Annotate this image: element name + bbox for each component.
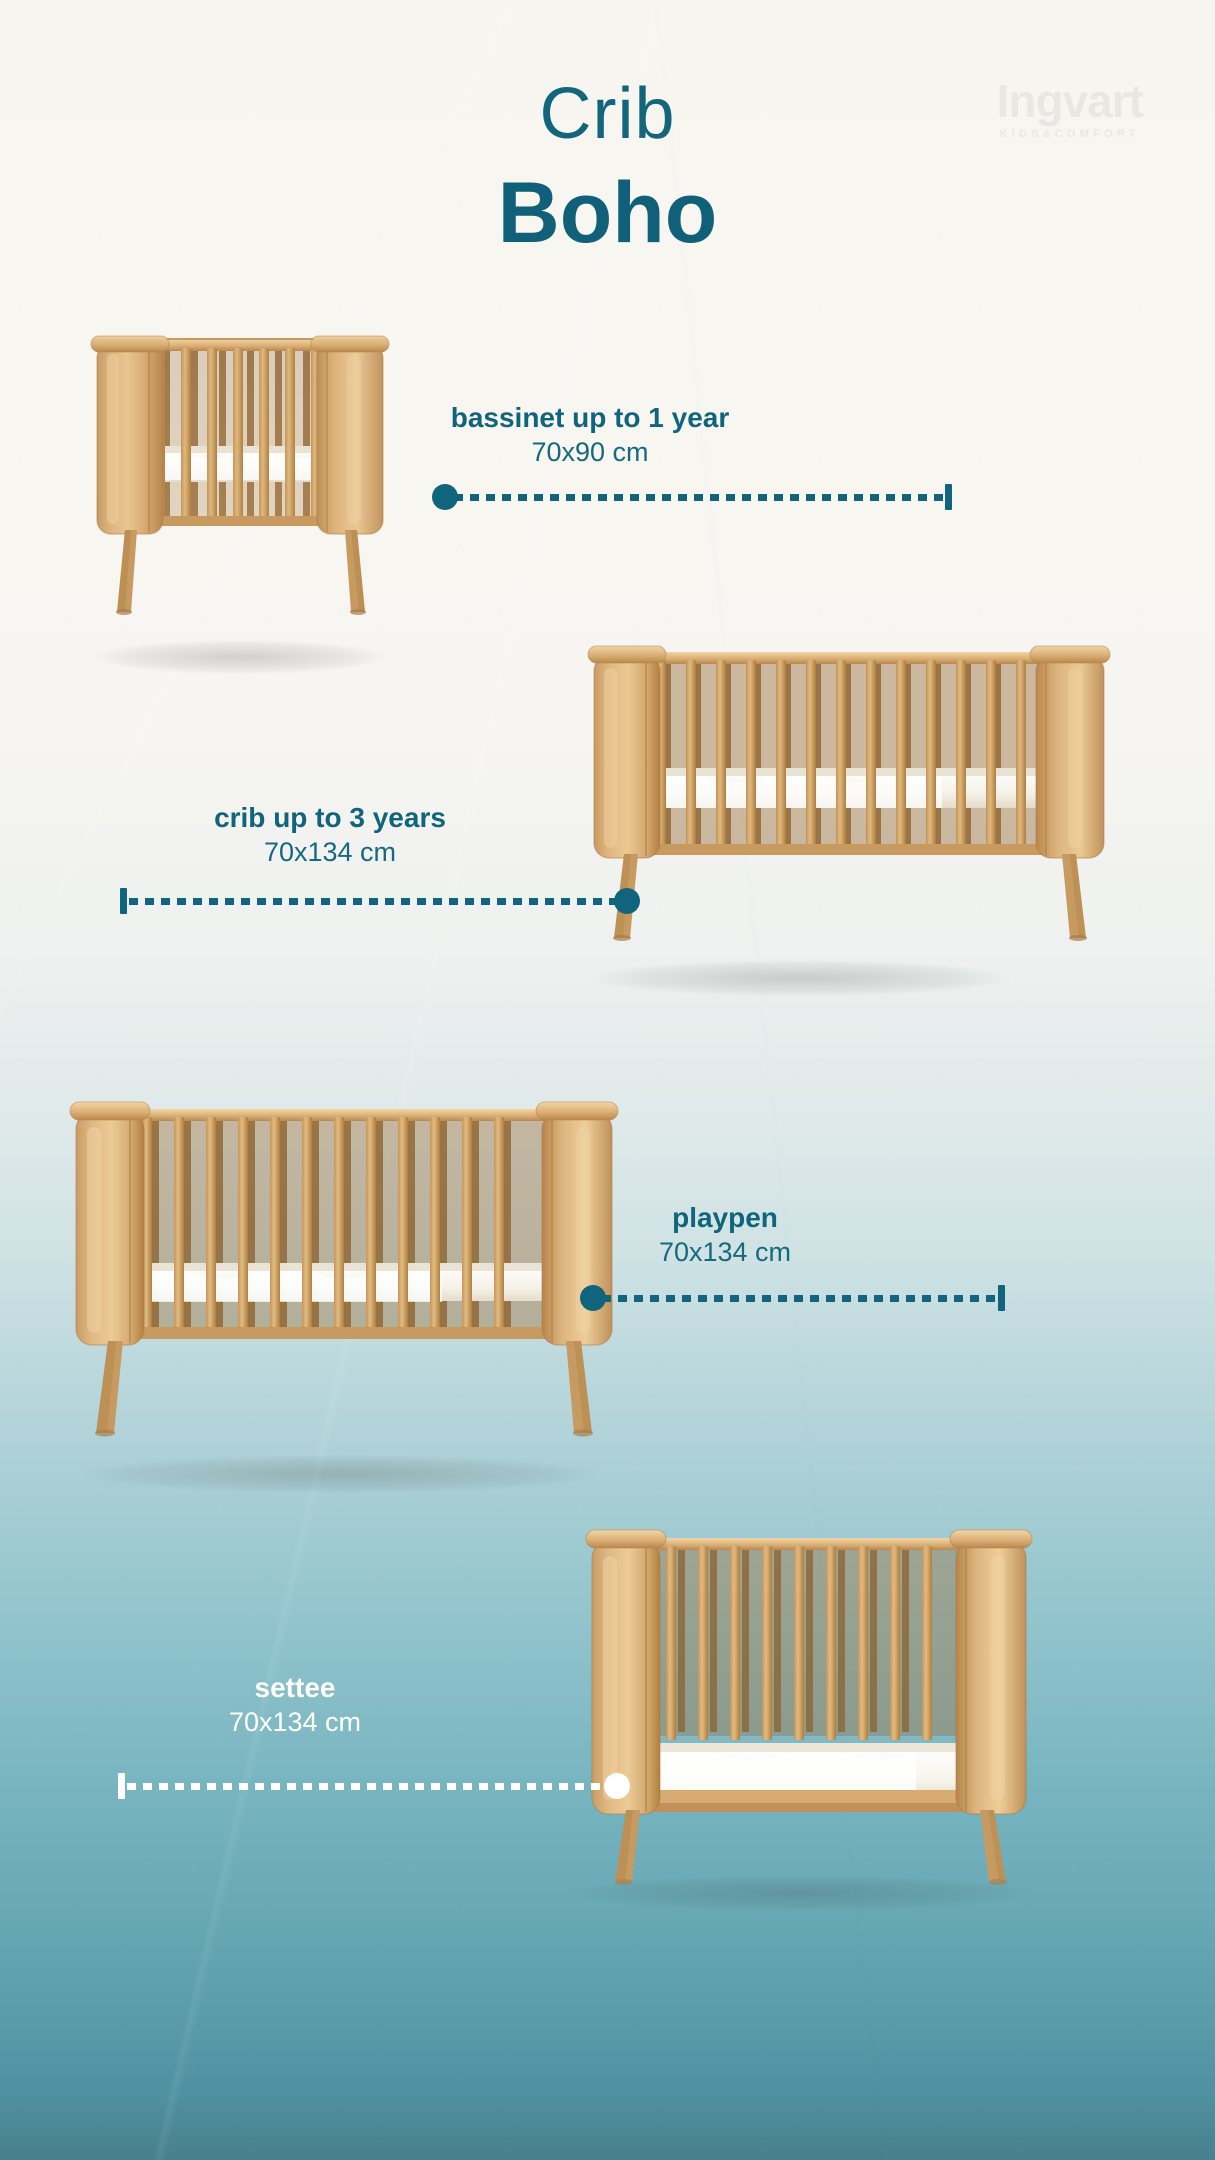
leader-line-playpen <box>580 1287 1005 1309</box>
brand-tagline: KIDS&COMFORT <box>997 128 1143 140</box>
playpen-image <box>60 1085 630 1475</box>
leader-dots-playpen <box>602 1295 996 1302</box>
callout-crib-dimensions: 70x134 cm <box>110 835 550 870</box>
leader-start-dot-playpen <box>580 1285 606 1311</box>
leader-end-dot-settee <box>604 1773 630 1799</box>
callout-playpen-title: playpen <box>570 1200 880 1235</box>
leader-start-dot-bassinet <box>432 484 458 510</box>
callout-settee: settee 70x134 cm <box>140 1670 450 1740</box>
leader-dots-bassinet <box>454 494 943 501</box>
leader-end-cap-playpen <box>998 1285 1005 1311</box>
callout-playpen-dimensions: 70x134 cm <box>570 1235 880 1270</box>
page-title-line2: Boho <box>0 170 1215 256</box>
leader-start-cap-crib <box>120 888 127 914</box>
brand-logo: Ingvart KIDS&COMFORT <box>997 78 1143 140</box>
crib-image <box>580 630 1120 980</box>
settee-image <box>570 1510 1090 1900</box>
callout-crib: crib up to 3 years 70x134 cm <box>110 800 550 870</box>
callout-playpen: playpen 70x134 cm <box>570 1200 880 1270</box>
leader-end-dot-crib <box>614 888 640 914</box>
bassinet-image <box>85 320 395 665</box>
callout-crib-title: crib up to 3 years <box>110 800 550 835</box>
leader-start-cap-settee <box>118 1773 125 1799</box>
leader-dots-crib <box>129 898 618 905</box>
callout-settee-dimensions: 70x134 cm <box>140 1705 450 1740</box>
header: Crib Boho Ingvart KIDS&COMFORT <box>0 0 1215 230</box>
leader-line-settee <box>118 1775 630 1797</box>
callout-bassinet-title: bassinet up to 1 year <box>400 400 780 435</box>
leader-line-crib <box>120 890 640 912</box>
callout-bassinet-dimensions: 70x90 cm <box>400 435 780 470</box>
callout-bassinet: bassinet up to 1 year 70x90 cm <box>400 400 780 470</box>
leader-dots-settee <box>127 1783 608 1790</box>
callout-settee-title: settee <box>140 1670 450 1705</box>
leader-line-bassinet <box>432 486 952 508</box>
brand-name: Ingvart <box>997 78 1143 124</box>
leader-end-cap-bassinet <box>945 484 952 510</box>
